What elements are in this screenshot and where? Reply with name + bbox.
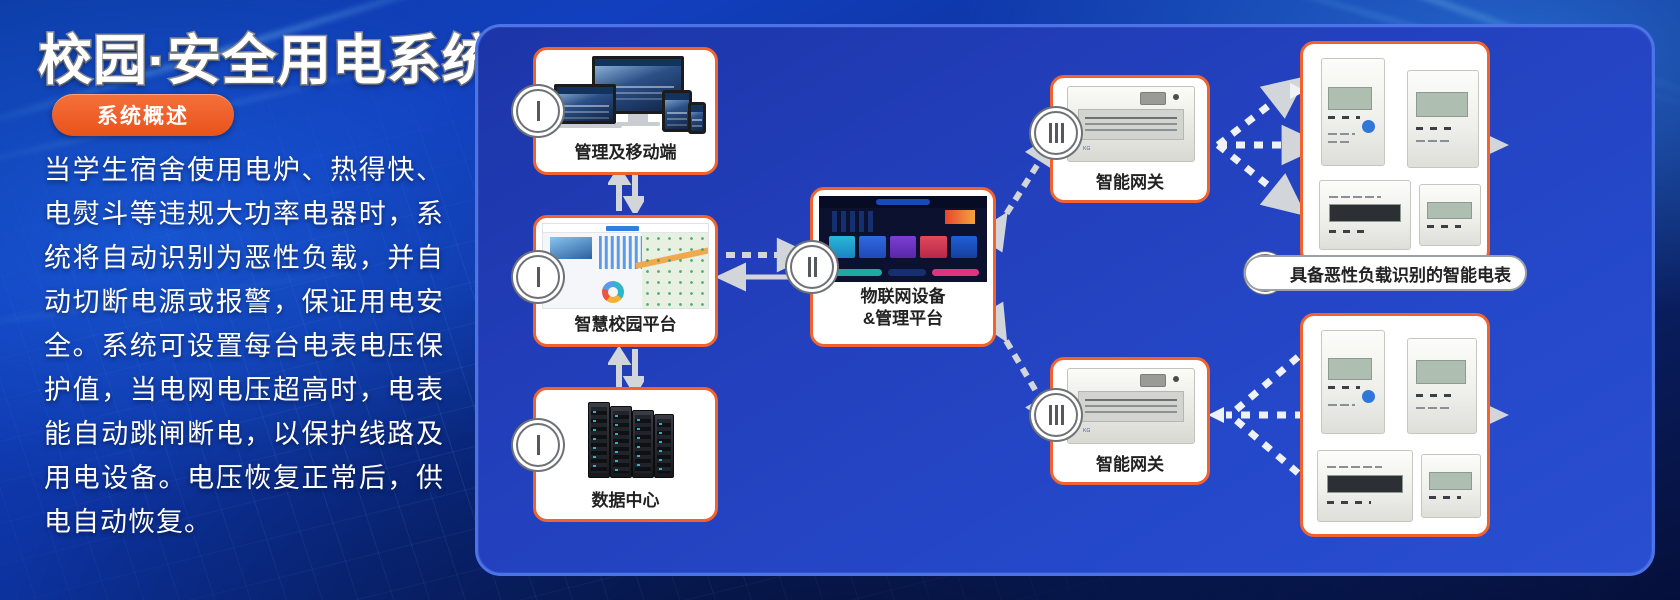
meter-group-card-bottom[interactable]	[1300, 313, 1490, 537]
numeral-badge-i	[516, 89, 560, 133]
numeral-badge-ii	[790, 245, 834, 289]
arrow-gateway-bottom-meter-c	[1230, 415, 1298, 473]
server-rack-icon	[610, 406, 632, 478]
node-label-line1: 物联网设备	[813, 286, 993, 308]
numeral-badge-iii	[1034, 393, 1078, 437]
section-badge: 系统概述	[52, 94, 234, 136]
gateway-device-icon: KG	[1067, 368, 1195, 444]
server-rack-icon	[654, 414, 674, 478]
arrow-gateway-top-meter-c	[1218, 145, 1290, 203]
node-card-admin-mobile[interactable]: 管理及移动端	[533, 47, 718, 175]
arrow-gateway-bottom-meter-a	[1230, 357, 1298, 415]
server-rack-icon	[632, 410, 654, 478]
laptop-icon	[554, 84, 616, 124]
node-card-iot-platform[interactable]: 物联网设备 &管理平台	[810, 187, 996, 347]
arrow-iot-gateway-top	[998, 145, 1050, 227]
arrow-gateway-top-meter-a	[1218, 89, 1290, 145]
smart-meter-icon	[1321, 330, 1385, 434]
numeral-badge-i	[516, 255, 560, 299]
overview-paragraph: 当学生宿舍使用电炉、热得快、电熨斗等违规大功率电器时，系统将自动识别为恶性负载，…	[44, 148, 444, 544]
numeral-badge-iii	[1034, 111, 1078, 155]
smart-meter-din-icon	[1317, 450, 1413, 522]
meter-group-label-pill: 具备恶性负载识别的智能电表	[1244, 255, 1527, 291]
smart-meter-icon	[1407, 70, 1479, 168]
smart-meter-icon	[1419, 184, 1481, 246]
overview-column: 校园·安全用电系统 系统概述 当学生宿舍使用电炉、热得快、电熨斗等违规大功率电器…	[0, 0, 470, 600]
node-label-line2: &管理平台	[813, 308, 993, 330]
node-label: 数据中心	[536, 490, 715, 512]
gateway-device-icon: KG	[1067, 86, 1195, 162]
node-label: 管理及移动端	[536, 142, 715, 164]
arrowhead-gateway-bottom	[1208, 407, 1224, 423]
node-label: 智能网关	[1053, 172, 1207, 194]
node-label: 智能网关	[1053, 454, 1207, 476]
node-card-data-center[interactable]: 数据中心	[533, 387, 718, 522]
page-title: 校园·安全用电系统	[38, 16, 497, 95]
smart-meter-icon	[1321, 58, 1385, 166]
meter-group-label-text: 具备恶性负载识别的智能电表	[1290, 261, 1511, 286]
campus-dashboard-thumbnail	[542, 223, 709, 309]
smart-meter-icon	[1421, 454, 1481, 518]
server-rack-icon	[588, 402, 610, 478]
node-card-campus-platform[interactable]: 智慧校园平台	[533, 215, 718, 347]
phone-icon	[688, 102, 706, 134]
meter-group-card-top[interactable]	[1300, 41, 1490, 265]
diagram-panel: 管理及移动端 智慧校园平台 数据中心	[475, 24, 1655, 576]
smart-meter-din-icon	[1319, 180, 1411, 250]
node-label: 智慧校园平台	[536, 314, 715, 336]
iot-platform-thumbnail	[819, 196, 987, 282]
numeral-badge-i	[516, 423, 560, 467]
smart-meter-icon	[1407, 338, 1477, 434]
